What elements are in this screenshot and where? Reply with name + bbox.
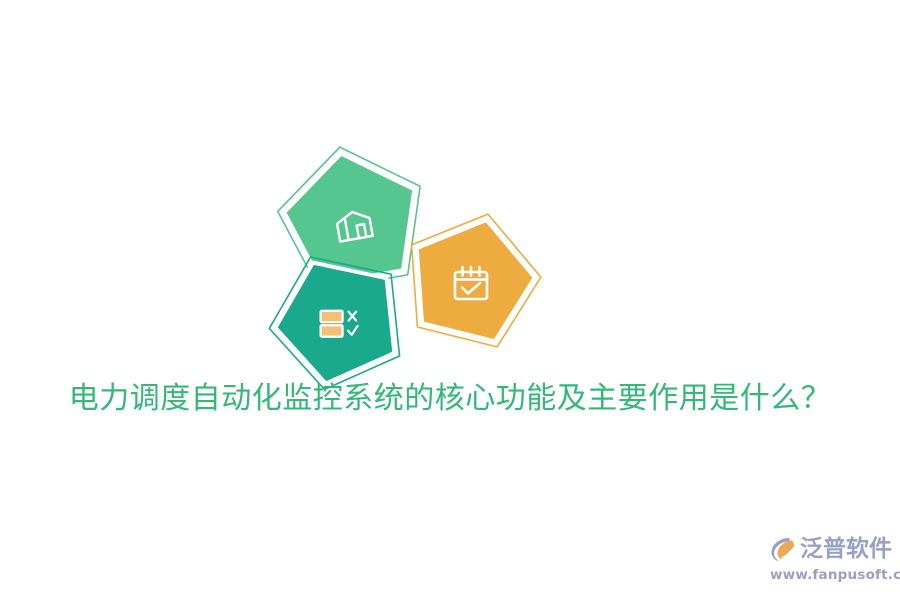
hero-graphic [255,140,555,385]
brand-name: 泛普软件 [800,534,892,564]
fanpu-logo-icon [768,534,798,564]
page-canvas: 电力调度自动化监控系统的核心功能及主要作用是什么？ 泛普软件 www.fanpu… [0,0,900,600]
brand-watermark: 泛普软件 www.fanpusoft.com [768,533,896,585]
pentagon-cluster-svg [255,140,555,385]
checklist-bar-1 [321,311,343,323]
brand-url: www.fanpusoft.com [770,566,896,584]
page-title: 电力调度自动化监控系统的核心功能及主要作用是什么？ [69,380,832,418]
brand-row: 泛普软件 [768,533,896,565]
page-title-container: 电力调度自动化监控系统的核心功能及主要作用是什么？ [0,380,900,418]
pentagon-orange [393,198,553,353]
checklist-bar-2 [321,325,343,337]
